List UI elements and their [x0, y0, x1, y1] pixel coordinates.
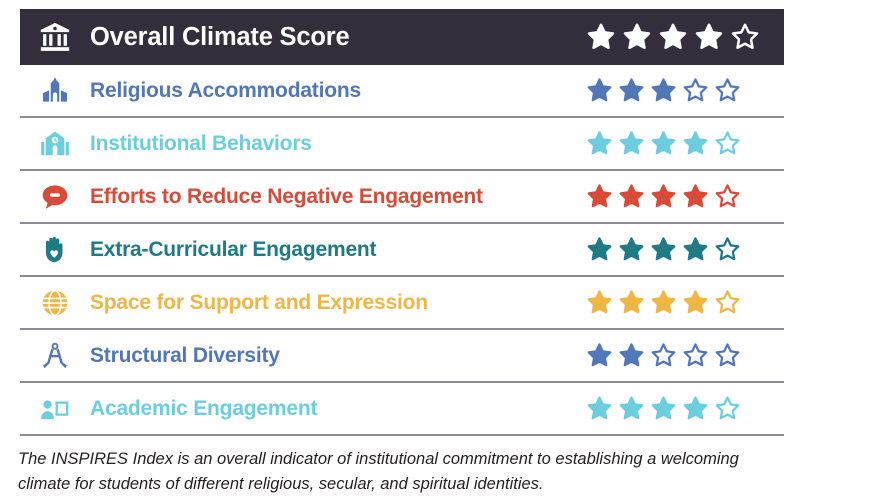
page-title: Overall Climate Score	[90, 23, 586, 52]
category-row[interactable]: Space for Support and Expression	[20, 277, 784, 330]
category-row[interactable]: Efforts to Reduce Negative Engagement	[20, 171, 784, 224]
category-label: Academic Engagement	[90, 397, 586, 421]
category-star-rating	[586, 289, 784, 316]
category-star-rating	[586, 77, 784, 104]
category-label: Institutional Behaviors	[90, 132, 586, 156]
star-empty-icon	[682, 77, 709, 104]
star-filled-icon	[618, 183, 645, 210]
category-star-rating	[586, 395, 784, 422]
star-filled-icon	[682, 236, 709, 263]
overall-star-rating	[586, 22, 784, 52]
category-label: Structural Diversity	[90, 344, 586, 368]
category-row[interactable]: Structural Diversity	[20, 330, 784, 383]
category-label: Efforts to Reduce Negative Engagement	[90, 185, 586, 209]
star-filled-icon	[682, 183, 709, 210]
star-filled-icon	[650, 395, 677, 422]
category-label: Religious Accommodations	[90, 79, 586, 103]
star-filled-icon	[618, 236, 645, 263]
star-filled-icon	[650, 183, 677, 210]
star-filled-icon	[586, 130, 613, 157]
category-star-rating	[586, 183, 784, 210]
hand-heart-icon	[20, 234, 90, 266]
star-filled-icon	[650, 236, 677, 263]
star-filled-icon	[586, 342, 613, 369]
category-list: Religious AccommodationsInstitutional Be…	[20, 65, 784, 436]
category-label: Extra-Curricular Engagement	[90, 238, 586, 262]
star-filled-icon	[650, 289, 677, 316]
star-empty-icon	[714, 289, 741, 316]
star-empty-icon	[714, 77, 741, 104]
star-filled-icon	[586, 395, 613, 422]
star-filled-icon	[586, 236, 613, 263]
school-building-clock-icon	[20, 128, 90, 160]
star-empty-icon	[714, 236, 741, 263]
star-filled-icon	[618, 342, 645, 369]
category-star-rating	[586, 130, 784, 157]
star-empty-icon	[714, 183, 741, 210]
temple-church-icon	[20, 75, 90, 107]
star-empty-icon	[714, 395, 741, 422]
globe-icon	[20, 287, 90, 319]
star-filled-icon	[618, 77, 645, 104]
overall-climate-score-header: Overall Climate Score	[20, 9, 784, 65]
category-star-rating	[586, 342, 784, 369]
compass-divider-icon	[20, 340, 90, 372]
star-filled-icon	[586, 183, 613, 210]
footnote-text: The INSPIRES Index is an overall indicat…	[18, 447, 788, 497]
star-empty-icon	[650, 342, 677, 369]
category-star-rating	[586, 236, 784, 263]
person-presentation-screen-icon	[20, 393, 90, 425]
star-filled-icon	[586, 77, 613, 104]
category-row[interactable]: Extra-Curricular Engagement	[20, 224, 784, 277]
star-filled-icon	[618, 289, 645, 316]
bank-institution-icon	[20, 20, 90, 54]
star-filled-icon	[586, 22, 616, 52]
category-row[interactable]: Institutional Behaviors	[20, 118, 784, 171]
star-filled-icon	[682, 130, 709, 157]
climate-score-card: Overall Climate Score Religious Accommod…	[20, 9, 784, 436]
star-empty-icon	[730, 22, 760, 52]
category-row[interactable]: Religious Accommodations	[20, 65, 784, 118]
category-row[interactable]: Academic Engagement	[20, 383, 784, 436]
star-filled-icon	[618, 130, 645, 157]
star-empty-icon	[714, 342, 741, 369]
star-filled-icon	[650, 77, 677, 104]
star-filled-icon	[618, 395, 645, 422]
star-filled-icon	[658, 22, 688, 52]
star-filled-icon	[650, 130, 677, 157]
star-filled-icon	[694, 22, 724, 52]
star-filled-icon	[682, 289, 709, 316]
star-filled-icon	[682, 395, 709, 422]
star-filled-icon	[586, 289, 613, 316]
speech-bubble-minus-icon	[20, 181, 90, 213]
category-label: Space for Support and Expression	[90, 291, 586, 315]
star-empty-icon	[714, 130, 741, 157]
star-filled-icon	[622, 22, 652, 52]
star-empty-icon	[682, 342, 709, 369]
